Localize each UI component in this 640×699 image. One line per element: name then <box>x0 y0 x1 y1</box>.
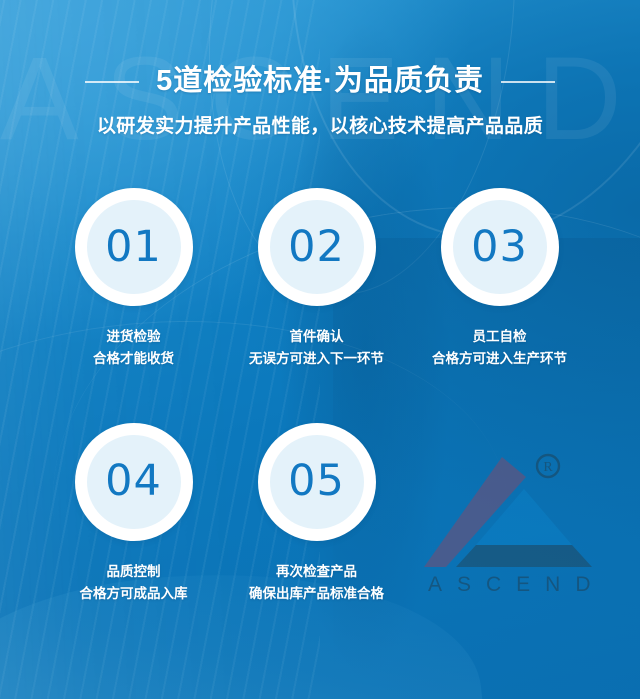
step-caption-line2-04: 合格方可成品入库 <box>80 583 188 605</box>
title-row: 5道检验标准·为品质负责 <box>0 66 640 98</box>
step-item-03: 03 员工自检 合格方可进入生产环节 <box>408 188 591 371</box>
logo-base-trapezoid <box>456 545 592 567</box>
step-circle-inner-01: 01 <box>87 200 181 294</box>
step-caption-line1-02: 首件确认 <box>249 326 384 348</box>
step-circle-03: 03 <box>441 188 559 306</box>
step-caption-line1-01: 进货检验 <box>93 326 174 348</box>
step-number-02: 02 <box>288 226 345 269</box>
step-caption-line1-03: 员工自检 <box>432 326 567 348</box>
step-caption-line2-01: 合格才能收货 <box>93 348 174 370</box>
step-number-03: 03 <box>471 226 528 269</box>
step-item-05: 05 再次检查产品 确保出库产品标准合格 <box>225 423 408 606</box>
step-circle-inner-02: 02 <box>270 200 364 294</box>
step-caption-04: 品质控制 合格方可成品入库 <box>80 561 188 606</box>
step-caption-01: 进货检验 合格才能收货 <box>93 326 174 371</box>
step-number-04: 04 <box>105 460 162 503</box>
step-circle-05: 05 <box>258 423 376 541</box>
step-circle-04: 04 <box>75 423 193 541</box>
step-caption-05: 再次检查产品 确保出库产品标准合格 <box>249 561 384 606</box>
step-caption-line2-02: 无误方可进入下一环节 <box>249 348 384 370</box>
step-circle-01: 01 <box>75 188 193 306</box>
step-caption-line2-05: 确保出库产品标准合格 <box>249 583 384 605</box>
quality-standards-poster: ASCEND 5道检验标准·为品质负责 以研发实力提升产品性能，以核心技术提高产… <box>0 0 640 699</box>
step-circle-inner-05: 05 <box>270 435 364 529</box>
header: 5道检验标准·为品质负责 以研发实力提升产品性能，以核心技术提高产品品质 <box>0 66 640 138</box>
step-item-02: 02 首件确认 无误方可进入下一环节 <box>225 188 408 371</box>
step-circle-inner-04: 04 <box>87 435 181 529</box>
title-rule-left <box>85 81 139 83</box>
step-caption-03: 员工自检 合格方可进入生产环节 <box>432 326 567 371</box>
step-item-01: 01 进货检验 合格才能收货 <box>42 188 225 371</box>
step-number-01: 01 <box>105 226 162 269</box>
step-circle-02: 02 <box>258 188 376 306</box>
page-title: 5道检验标准·为品质负责 <box>156 66 484 98</box>
step-caption-line2-03: 合格方可进入生产环节 <box>432 348 567 370</box>
title-rule-right <box>501 81 555 83</box>
ascend-logo: R ASCEND <box>424 441 626 599</box>
step-circle-inner-03: 03 <box>453 200 547 294</box>
step-caption-line1-04: 品质控制 <box>80 561 188 583</box>
step-caption-02: 首件确认 无误方可进入下一环节 <box>249 326 384 371</box>
step-caption-line1-05: 再次检查产品 <box>249 561 384 583</box>
step-number-05: 05 <box>288 460 345 503</box>
page-subtitle: 以研发实力提升产品性能，以核心技术提高产品品质 <box>0 111 640 138</box>
step-item-04: 04 品质控制 合格方可成品入库 <box>42 423 225 606</box>
steps-row-1: 01 进货检验 合格才能收货 02 首件确认 无误方可进入下一环节 <box>0 188 640 371</box>
logo-registered-letter: R <box>543 460 553 475</box>
logo-wordmark: ASCEND <box>428 573 606 596</box>
